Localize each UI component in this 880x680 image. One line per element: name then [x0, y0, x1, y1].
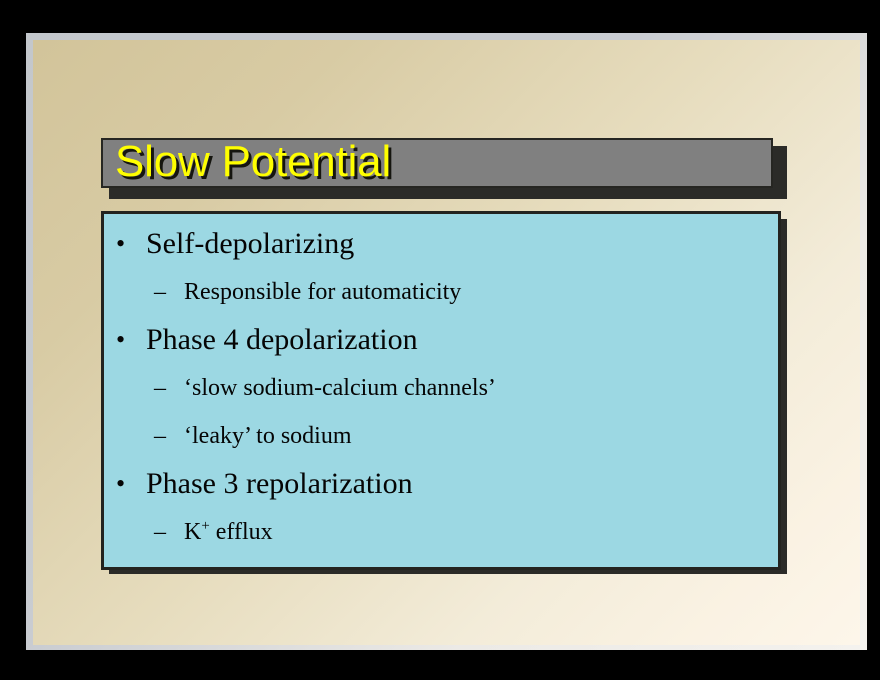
- bullet-item-level-2: –Responsible for automaticity: [108, 268, 778, 316]
- superscript-charge: +: [201, 518, 209, 534]
- content-box: •Self-depolarizing–Responsible for autom…: [101, 211, 781, 570]
- slide-title: Slow Potential: [115, 137, 391, 187]
- bullet-text: Self-depolarizing: [146, 227, 354, 260]
- bullet-item-level-1: •Phase 3 repolarization: [108, 460, 778, 508]
- bullet-text: ‘leaky’ to sodium: [184, 423, 352, 449]
- bullet-item-level-1: •Phase 4 depolarization: [108, 316, 778, 364]
- title-bar: Slow Potential: [101, 138, 773, 188]
- bullet-item-level-2: –K+ efflux: [108, 508, 778, 556]
- bullet-item-level-1: •Self-depolarizing: [108, 220, 778, 268]
- bullet-text: Responsible for automaticity: [184, 279, 461, 305]
- bullet-text: Phase 3 repolarization: [146, 467, 413, 500]
- bullet-dash-icon: –: [154, 412, 166, 460]
- bullet-item-level-2: –‘leaky’ to sodium: [108, 412, 778, 460]
- bullet-dot-icon: •: [116, 460, 125, 508]
- bullet-text: Phase 4 depolarization: [146, 323, 418, 356]
- bullet-text: ‘slow sodium-calcium channels’: [184, 375, 496, 401]
- bullet-dash-icon: –: [154, 508, 166, 556]
- bullet-dot-icon: •: [116, 220, 125, 268]
- bullet-list: •Self-depolarizing–Responsible for autom…: [104, 220, 778, 556]
- bullet-dot-icon: •: [116, 316, 125, 364]
- bullet-text: K+ efflux: [184, 519, 273, 545]
- bullet-dash-icon: –: [154, 364, 166, 412]
- bullet-item-level-2: –‘slow sodium-calcium channels’: [108, 364, 778, 412]
- bullet-dash-icon: –: [154, 268, 166, 316]
- slide-root: Slow Potential •Self-depolarizing–Respon…: [0, 0, 880, 680]
